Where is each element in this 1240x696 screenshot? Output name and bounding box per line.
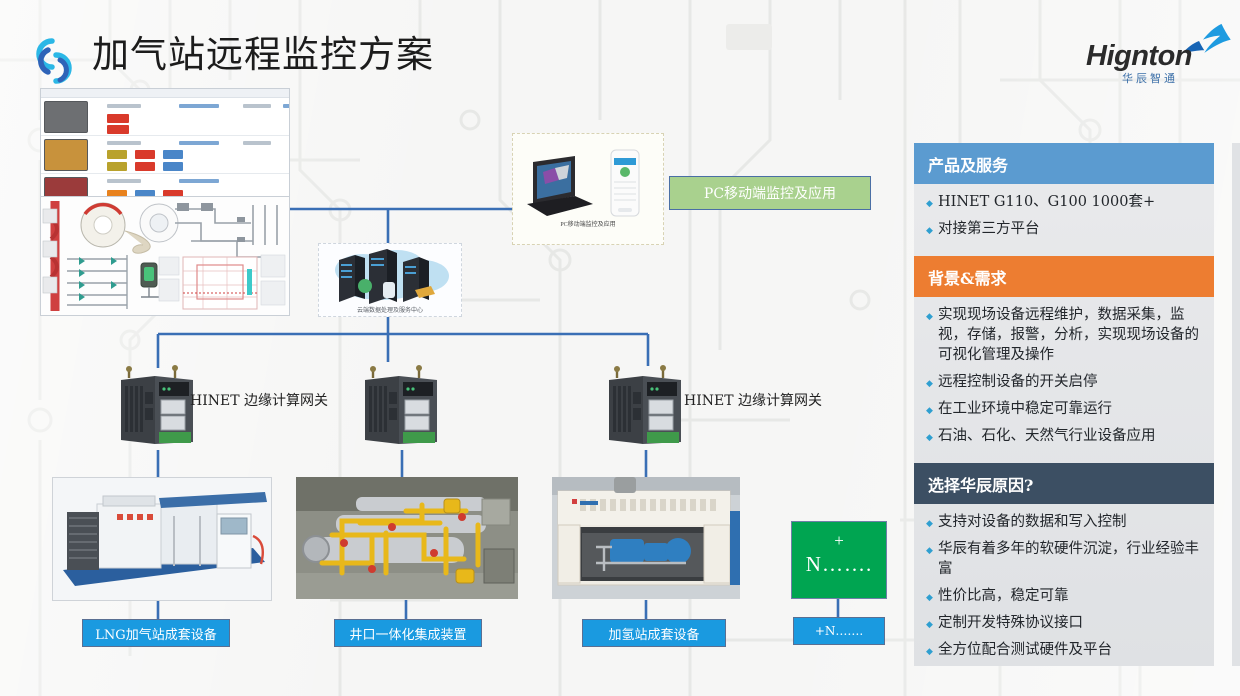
equipment-label-hydrogen: 加氢站成套设备 bbox=[582, 619, 726, 647]
list-item: ◆ 石油、石化、天然气行业设备应用 bbox=[926, 426, 1204, 446]
list-item-text: 性价比高，稳定可靠 bbox=[938, 586, 1069, 606]
bullet-diamond-icon: ◆ bbox=[926, 192, 938, 208]
scada-diagram-screenshot bbox=[40, 196, 290, 316]
bullet-diamond-icon: ◆ bbox=[926, 399, 938, 415]
devices-caption: PC移动端监控及应用 bbox=[513, 219, 663, 228]
equipment-label-lng: LNG加气站成套设备 bbox=[82, 619, 230, 647]
list-item-text: 全方位配合测试硬件及平台 bbox=[938, 640, 1112, 660]
bullet-diamond-icon: ◆ bbox=[926, 640, 938, 656]
list-item: ◆ 实现现场设备远程维护，数据采集，监视，存储，报警，分析，实现现场设备的可视化… bbox=[926, 305, 1204, 365]
lng-station-photo bbox=[52, 477, 272, 601]
n-box-plus: + bbox=[792, 531, 886, 551]
bullet-diamond-icon: ◆ bbox=[926, 219, 938, 235]
cloud-caption: 云端数据处理及服务中心 bbox=[319, 305, 461, 314]
panel-products-title: 产品及服务 bbox=[914, 143, 1214, 184]
list-item: ◆ 在工业环境中稳定可靠运行 bbox=[926, 399, 1204, 419]
right-edge-strip bbox=[1232, 143, 1240, 666]
brand-logo: Hignton 华辰智通 bbox=[1086, 22, 1226, 84]
bullet-diamond-icon: ◆ bbox=[926, 305, 938, 321]
list-item-text: 定制开发特殊协议接口 bbox=[938, 613, 1083, 633]
panel-products-list: ◆ HINET G110、G100 1000套+ ◆ 对接第三方平台 bbox=[914, 184, 1214, 256]
list-item: ◆ HINET G110、G100 1000套+ bbox=[926, 192, 1204, 212]
gateway-device-1 bbox=[115, 362, 201, 448]
list-item: ◆ 性价比高，稳定可靠 bbox=[926, 586, 1204, 606]
n-more-label: +N……. bbox=[793, 617, 885, 645]
panel-why-us-title: 选择华辰原因? bbox=[914, 463, 1214, 504]
list-item: ◆ 定制开发特殊协议接口 bbox=[926, 613, 1204, 633]
brand-name: Hignton bbox=[1086, 40, 1192, 73]
list-item: ◆ 华辰有着多年的软硬件沉淀，行业经验丰富 bbox=[926, 539, 1204, 579]
page-header: 加气站远程监控方案 Hignton 华辰智通 bbox=[0, 0, 1240, 100]
hydrogen-station-photo bbox=[552, 477, 740, 599]
list-item-text: 对接第三方平台 bbox=[938, 219, 1040, 239]
equipment-label-wellhead: 井口一体化集成装置 bbox=[334, 619, 482, 647]
list-item: ◆ 对接第三方平台 bbox=[926, 219, 1204, 239]
panel-why-us: 选择华辰原因? ◆ 支持对设备的数据和写入控制 ◆ 华辰有着多年的软硬件沉淀，行… bbox=[914, 463, 1214, 677]
laptop-and-phone-photo: PC移动端监控及应用 bbox=[512, 133, 664, 245]
gateway-label-left: HINET 边缘计算网关 bbox=[190, 390, 328, 410]
list-item-text: HINET G110、G100 1000套+ bbox=[938, 192, 1155, 212]
bullet-diamond-icon: ◆ bbox=[926, 539, 938, 555]
circles-logo-icon bbox=[26, 33, 80, 87]
list-item-text: 实现现场设备远程维护，数据采集，监视，存储，报警，分析，实现现场设备的可视化管理… bbox=[938, 305, 1204, 365]
panel-products: 产品及服务 ◆ HINET G110、G100 1000套+ ◆ 对接第三方平台 bbox=[914, 143, 1214, 256]
bullet-diamond-icon: ◆ bbox=[926, 512, 938, 528]
pc-mobile-label: PC移动端监控及应用 bbox=[669, 176, 871, 210]
list-item-text: 石油、石化、天然气行业设备应用 bbox=[938, 426, 1156, 446]
n-more-box: + N……. bbox=[791, 521, 887, 599]
list-item-text: 远程控制设备的开关启停 bbox=[938, 372, 1098, 392]
list-item: ◆ 全方位配合测试硬件及平台 bbox=[926, 640, 1204, 660]
bullet-diamond-icon: ◆ bbox=[926, 613, 938, 629]
list-item-text: 华辰有着多年的软硬件沉淀，行业经验丰富 bbox=[938, 539, 1204, 579]
gateway-device-2 bbox=[359, 362, 445, 448]
n-box-dots: N……. bbox=[792, 552, 886, 577]
bullet-diamond-icon: ◆ bbox=[926, 372, 938, 388]
list-item-text: 支持对设备的数据和写入控制 bbox=[938, 512, 1127, 532]
brand-cn-name: 华辰智通 bbox=[1122, 70, 1178, 86]
list-item-text: 在工业环境中稳定可靠运行 bbox=[938, 399, 1112, 419]
panel-background-list: ◆ 实现现场设备远程维护，数据采集，监视，存储，报警，分析，实现现场设备的可视化… bbox=[914, 297, 1214, 463]
wellhead-unit-photo bbox=[296, 477, 518, 599]
list-item: ◆ 远程控制设备的开关启停 bbox=[926, 372, 1204, 392]
page-title: 加气站远程监控方案 bbox=[92, 30, 434, 80]
panel-background: 背景&需求 ◆ 实现现场设备远程维护，数据采集，监视，存储，报警，分析，实现现场… bbox=[914, 256, 1214, 463]
gateway-device-3 bbox=[603, 362, 689, 448]
cloud-datacenter-image: 云端数据处理及服务中心 bbox=[318, 243, 462, 317]
panel-why-us-list: ◆ 支持对设备的数据和写入控制 ◆ 华辰有着多年的软硬件沉淀，行业经验丰富 ◆ … bbox=[914, 504, 1214, 677]
list-item: ◆ 支持对设备的数据和写入控制 bbox=[926, 512, 1204, 532]
panel-background-title: 背景&需求 bbox=[914, 256, 1214, 297]
bullet-diamond-icon: ◆ bbox=[926, 586, 938, 602]
gateway-label-right: HINET 边缘计算网关 bbox=[684, 390, 822, 410]
bullet-diamond-icon: ◆ bbox=[926, 426, 938, 442]
info-panels: 产品及服务 ◆ HINET G110、G100 1000套+ ◆ 对接第三方平台… bbox=[914, 143, 1214, 666]
